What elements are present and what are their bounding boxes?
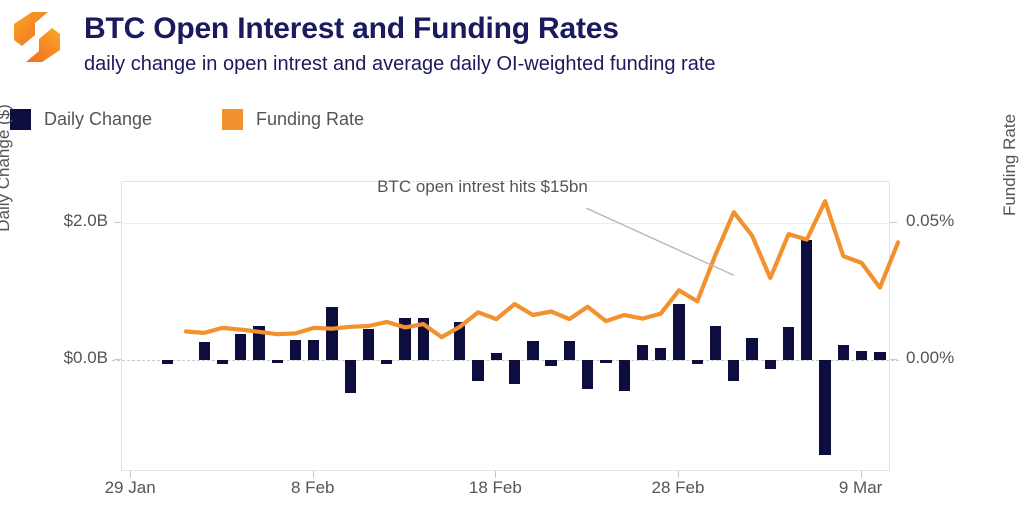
y-axis-right-title: Funding Rate [1000,75,1020,255]
x-axis-tick-mark [495,471,496,478]
chart-header: BTC Open Interest and Funding Rates dail… [0,0,1029,100]
page-subtitle: daily change in open intrest and average… [84,53,716,76]
x-axis-tick-mark [130,471,131,478]
x-axis-tick-label: 8 Feb [291,478,334,498]
legend-item-daily-change[interactable]: Daily Change [10,105,152,133]
annotation-label: BTC open intrest hits $15bn [377,177,588,197]
page-title: BTC Open Interest and Funding Rates [84,12,619,46]
chart-page: BTC Open Interest and Funding Rates dail… [0,0,1029,519]
annotation-leader-line [122,182,889,470]
legend-item-funding-rate[interactable]: Funding Rate [222,105,364,133]
x-axis-tick-label: 18 Feb [469,478,522,498]
y-axis-left-tick-mark [114,222,121,223]
y-axis-left-tick-label: $0.0B [20,348,108,368]
chart-plot-wrapper: Daily Change ($) Funding Rate $0.0B$2.0B… [0,160,1029,519]
y-axis-left-title: Daily Change ($) [0,58,14,278]
legend-label-daily-change: Daily Change [44,109,152,130]
y-axis-right-tick-mark [890,222,897,223]
legend-swatch-funding-rate [222,109,243,130]
legend-label-funding-rate: Funding Rate [256,109,364,130]
x-axis-tick-label: 29 Jan [105,478,156,498]
x-axis-tick-label: 9 Mar [839,478,882,498]
x-axis-tick-mark [861,471,862,478]
y-axis-right-tick-label: 0.05% [906,211,954,231]
leader-line [586,208,734,275]
x-axis-tick-mark [678,471,679,478]
y-axis-left-tick-label: $2.0B [20,211,108,231]
plot-area[interactable] [121,181,890,471]
y-axis-right-tick-label: 0.00% [906,348,954,368]
x-axis-tick-mark [313,471,314,478]
orange-hex-logo-icon [8,8,66,66]
x-axis-tick-label: 28 Feb [652,478,705,498]
